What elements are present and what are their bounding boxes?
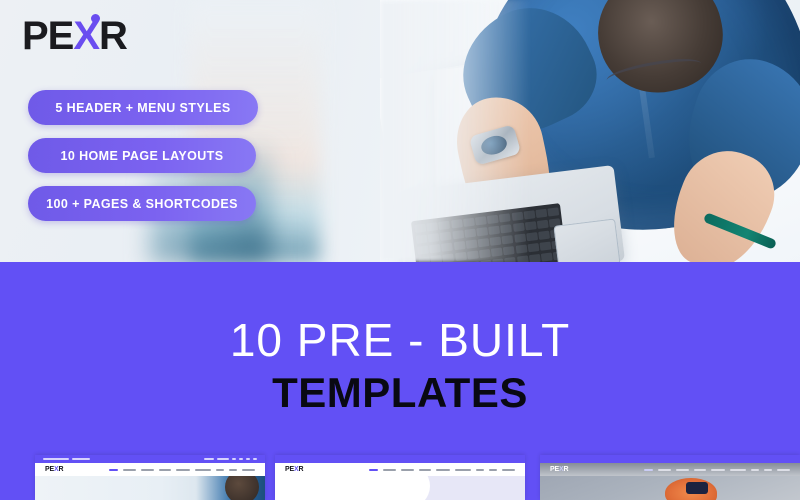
brand-logo[interactable]: PE X R [22, 16, 127, 56]
badge-home-page-layouts[interactable]: 10 HOME PAGE LAYOUTS [28, 138, 256, 173]
preview1-nav[interactable] [109, 469, 255, 471]
badge-header-menu-styles[interactable]: 5 HEADER + MENU STYLES [28, 90, 258, 125]
logo-x-group: X [73, 16, 99, 56]
template-preview-strip: PEXR PEXR [0, 445, 800, 500]
preview3-logo: PEXR [550, 466, 568, 473]
preview2-logo: PEXR [285, 466, 303, 473]
logo-dot-icon [91, 14, 100, 23]
laptop-trackpad [553, 218, 620, 262]
headline-secondary: TEMPLATES [0, 372, 800, 414]
photo-left-fade [380, 0, 530, 262]
preview1-topbar-left [43, 458, 90, 460]
preview1-header: PEXR [35, 463, 265, 476]
feature-badge-list: 5 HEADER + MENU STYLES 10 HOME PAGE LAYO… [28, 90, 258, 234]
preview2-hero-image [275, 476, 525, 500]
hero-section: PE X R 5 HEADER + MENU STYLES 10 HOME PA… [0, 0, 800, 262]
preview2-logo-post: R [298, 466, 303, 473]
preview1-hero-image [35, 476, 265, 500]
preview1-topbar-right [204, 458, 257, 460]
template-preview-1[interactable]: PEXR [35, 455, 265, 500]
preview2-header: PEXR [275, 463, 525, 476]
preview3-topbar [540, 455, 800, 463]
preview3-nav[interactable] [644, 469, 790, 471]
preview3-hero-image [540, 476, 800, 500]
template-preview-3[interactable]: PEXR [540, 455, 800, 500]
hero-photo [380, 0, 800, 262]
badge-pages-shortcodes[interactable]: 100 + PAGES & SHORTCODES [28, 186, 256, 221]
camera-icon [686, 482, 708, 494]
logo-text-post: R [99, 16, 127, 56]
headline-primary: 10 PRE - BUILT [0, 317, 800, 363]
preview1-topbar [35, 455, 265, 463]
headline-band: 10 PRE - BUILT TEMPLATES [0, 262, 800, 445]
preview3-header: PEXR [540, 463, 800, 476]
preview2-nav[interactable] [369, 469, 515, 471]
logo-text-pre: PE [22, 16, 73, 56]
preview3-logo-pre: PE [550, 466, 559, 473]
preview3-logo-post: R [563, 466, 568, 473]
preview1-logo-pre: PE [45, 466, 54, 473]
preview2-logo-pre: PE [285, 466, 294, 473]
preview2-topbar [275, 455, 525, 463]
preview1-logo: PEXR [45, 466, 63, 473]
template-preview-2[interactable]: PEXR [275, 455, 525, 500]
preview1-logo-post: R [58, 466, 63, 473]
